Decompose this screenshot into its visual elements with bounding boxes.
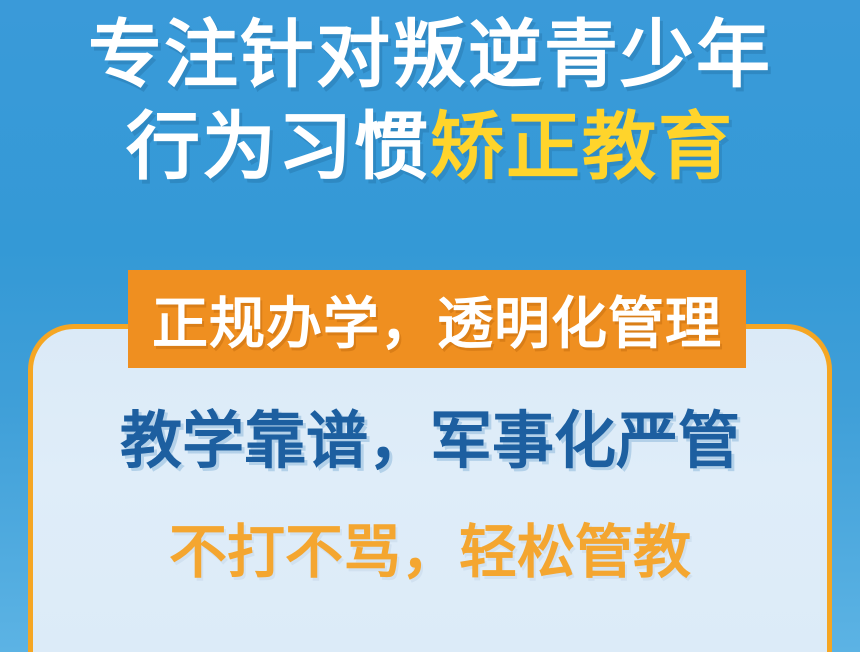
headline-line-2: 行为习惯矫正教育 xyxy=(0,108,860,186)
highlight-banner: 正规办学，透明化管理 xyxy=(128,270,746,368)
card-line-teaching: 教学靠谱，军事化严管 xyxy=(0,390,860,480)
card-line-discipline: 不打不骂，轻松管教 xyxy=(0,505,860,589)
headline-block: 专注针对叛逆青少年 行为习惯矫正教育 xyxy=(0,16,860,185)
promo-poster: 专注针对叛逆青少年 行为习惯矫正教育 正规办学，透明化管理 教学靠谱，军事化严管… xyxy=(0,0,860,652)
highlight-banner-text: 正规办学，透明化管理 xyxy=(152,279,722,360)
headline-line-2-gold-part: 矫正教育 xyxy=(430,105,734,188)
feature-card xyxy=(28,324,832,652)
headline-line-1: 专注针对叛逆青少年 xyxy=(0,16,860,94)
headline-line-2-white-part: 行为习惯 xyxy=(126,105,430,188)
